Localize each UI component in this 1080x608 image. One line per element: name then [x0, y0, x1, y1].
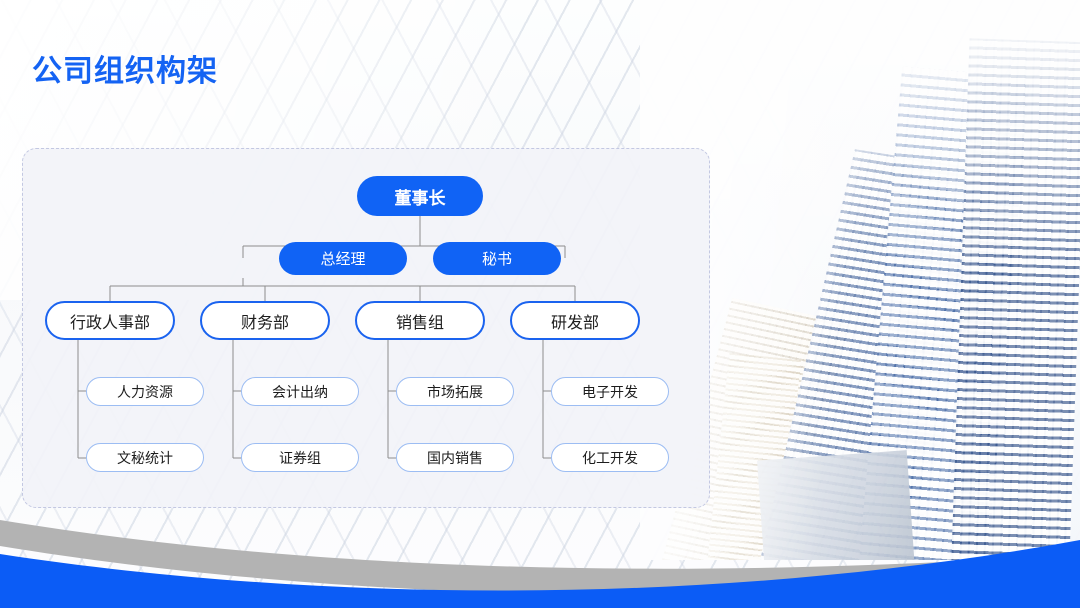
org-node-finance-dept[interactable]: 财务部 [200, 301, 330, 340]
org-node-secretarial-statistics[interactable]: 文秘统计 [86, 443, 204, 472]
org-node-chairman[interactable]: 董事长 [357, 176, 483, 216]
org-node-domestic-sales[interactable]: 国内销售 [396, 443, 514, 472]
org-node-securities-group[interactable]: 证券组 [241, 443, 359, 472]
org-node-rd-dept[interactable]: 研发部 [510, 301, 640, 340]
bottom-wave-decoration [0, 488, 1080, 608]
org-node-chemical-development[interactable]: 化工开发 [551, 443, 669, 472]
org-node-admin-hr-dept[interactable]: 行政人事部 [45, 301, 175, 340]
org-node-general-manager[interactable]: 总经理 [279, 242, 407, 275]
org-node-electronics-development[interactable]: 电子开发 [551, 377, 669, 406]
org-node-accounting-cashier[interactable]: 会计出纳 [241, 377, 359, 406]
org-node-sales-group[interactable]: 销售组 [355, 301, 485, 340]
org-node-secretary[interactable]: 秘书 [433, 242, 561, 275]
slide: 公司组织构架 [0, 0, 1080, 608]
org-chart: 董事长 总经理 秘书 行政人事部 财务部 销售组 研发部 人力资源 文秘统计 会… [0, 0, 710, 520]
org-node-human-resources[interactable]: 人力资源 [86, 377, 204, 406]
org-node-market-development[interactable]: 市场拓展 [396, 377, 514, 406]
